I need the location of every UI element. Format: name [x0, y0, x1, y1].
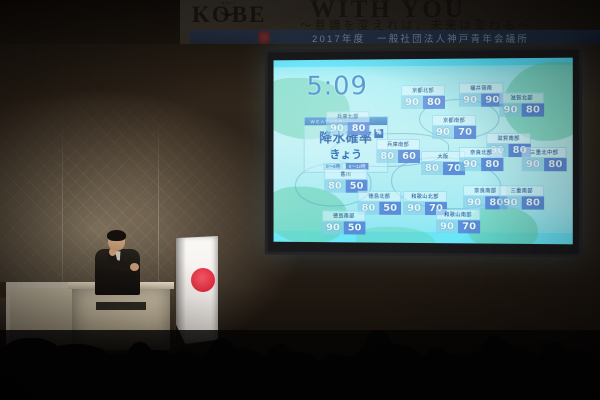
probability-afternoon: 80 — [544, 158, 567, 172]
probability-morning: 90 — [403, 201, 425, 215]
projected-weather-broadcast: 5:09 WEATHER 降水確率 ％ きょう 0〜6時 6〜12時 兵庫北部9… — [274, 58, 573, 245]
region-label: 徳島南部 — [322, 210, 365, 221]
region-label: 和歌山北部 — [403, 191, 447, 202]
screen-top-strip — [274, 58, 573, 68]
region-values: 9080 — [522, 158, 567, 172]
region-label: 福井嶺南 — [459, 82, 503, 93]
scene-photograph: KOBE since WITH YOU 〜意識を変えれば、未来は変わる〜 201… — [0, 0, 600, 400]
audience-silhouettes — [0, 280, 600, 400]
forecast-cell: 奈良北部9080 — [459, 147, 503, 171]
probability-morning: 90 — [459, 158, 481, 172]
probability-afternoon: 80 — [348, 122, 370, 135]
region-label: 京都南部 — [432, 115, 476, 126]
forecast-cell: 京都北部9080 — [401, 85, 445, 109]
probability-morning: 90 — [401, 95, 423, 109]
percent-badge-icon: ％ — [374, 129, 383, 138]
broadcast-clock: 5:09 — [307, 71, 368, 101]
probability-afternoon: 80 — [522, 103, 544, 117]
region-label: 兵庫北部 — [326, 111, 369, 122]
region-label: 香川 — [324, 169, 367, 180]
speaker-hand-left — [130, 263, 139, 271]
probability-afternoon: 50 — [379, 201, 401, 215]
probability-afternoon: 60 — [398, 150, 420, 163]
forecast-cell: 徳島南部9050 — [322, 210, 365, 234]
region-values: 8060 — [376, 150, 420, 163]
forecast-cell: 兵庫北部9080 — [326, 111, 369, 135]
probability-morning: 90 — [326, 122, 348, 135]
weather-box-day: きょう — [305, 146, 388, 163]
region-label: 兵庫南部 — [376, 139, 420, 150]
forecast-cell: 三重北中部9080 — [522, 147, 567, 171]
probability-morning: 90 — [499, 196, 521, 210]
probability-morning: 90 — [463, 196, 485, 210]
region-label: 滋賀北部 — [499, 92, 544, 103]
projection-screen: 5:09 WEATHER 降水確率 ％ きょう 0〜6時 6〜12時 兵庫北部9… — [265, 46, 582, 257]
land-south — [356, 227, 435, 245]
speaker-hair — [107, 230, 126, 241]
region-values: 9080 — [459, 158, 503, 172]
region-label: 徳島北部 — [358, 191, 402, 202]
probability-morning: 90 — [499, 103, 521, 117]
region-values: 9080 — [499, 196, 544, 210]
probability-afternoon: 80 — [423, 95, 445, 109]
probability-morning: 80 — [421, 162, 443, 176]
probability-morning: 80 — [324, 179, 346, 192]
probability-morning: 90 — [436, 220, 458, 234]
forecast-cell: 三重南部9080 — [499, 185, 544, 209]
region-label: 奈良北部 — [459, 147, 503, 158]
region-values: 9080 — [326, 122, 369, 136]
forecast-cell: 兵庫南部8060 — [376, 139, 420, 163]
region-label: 京都北部 — [401, 85, 445, 96]
forecast-cell: 和歌山南部9070 — [436, 209, 480, 233]
probability-afternoon: 70 — [458, 220, 480, 234]
region-label: 三重北中部 — [522, 147, 567, 158]
region-values: 9070 — [436, 220, 480, 234]
forecast-cell: 福井嶺南9090 — [459, 82, 503, 106]
probability-afternoon: 50 — [344, 221, 366, 235]
region-label: 滋賀南部 — [486, 133, 531, 144]
banner-strip: 2017年度 一般社団法人神戸青年会議所 — [190, 30, 600, 44]
forecast-cell: 香川8050 — [324, 169, 367, 193]
probability-morning: 90 — [432, 125, 454, 139]
probability-afternoon: 80 — [481, 158, 503, 172]
forecast-cell: 滋賀北部9080 — [499, 92, 544, 116]
region-label: 三重南部 — [499, 185, 544, 196]
region-values: 9090 — [459, 93, 503, 107]
jc-emblem-icon — [258, 31, 270, 44]
region-label: 和歌山南部 — [436, 209, 480, 220]
probability-morning: 90 — [322, 221, 344, 235]
region-values: 9070 — [432, 125, 476, 139]
kobe-logo-sub: since — [222, 0, 236, 5]
kobe-logo: KOBE — [192, 2, 284, 28]
probability-morning: 90 — [459, 93, 481, 107]
banner-strip-text: 2017年度 一般社団法人神戸青年会議所 — [312, 31, 529, 44]
region-values: 9080 — [401, 95, 445, 109]
probability-morning: 80 — [376, 150, 398, 163]
probability-afternoon: 70 — [454, 125, 476, 139]
probability-afternoon: 80 — [522, 196, 544, 210]
probability-morning: 90 — [522, 158, 544, 172]
forecast-cell: 京都南部9070 — [432, 115, 476, 139]
region-values: 9080 — [499, 103, 544, 117]
region-values: 9050 — [322, 221, 365, 235]
